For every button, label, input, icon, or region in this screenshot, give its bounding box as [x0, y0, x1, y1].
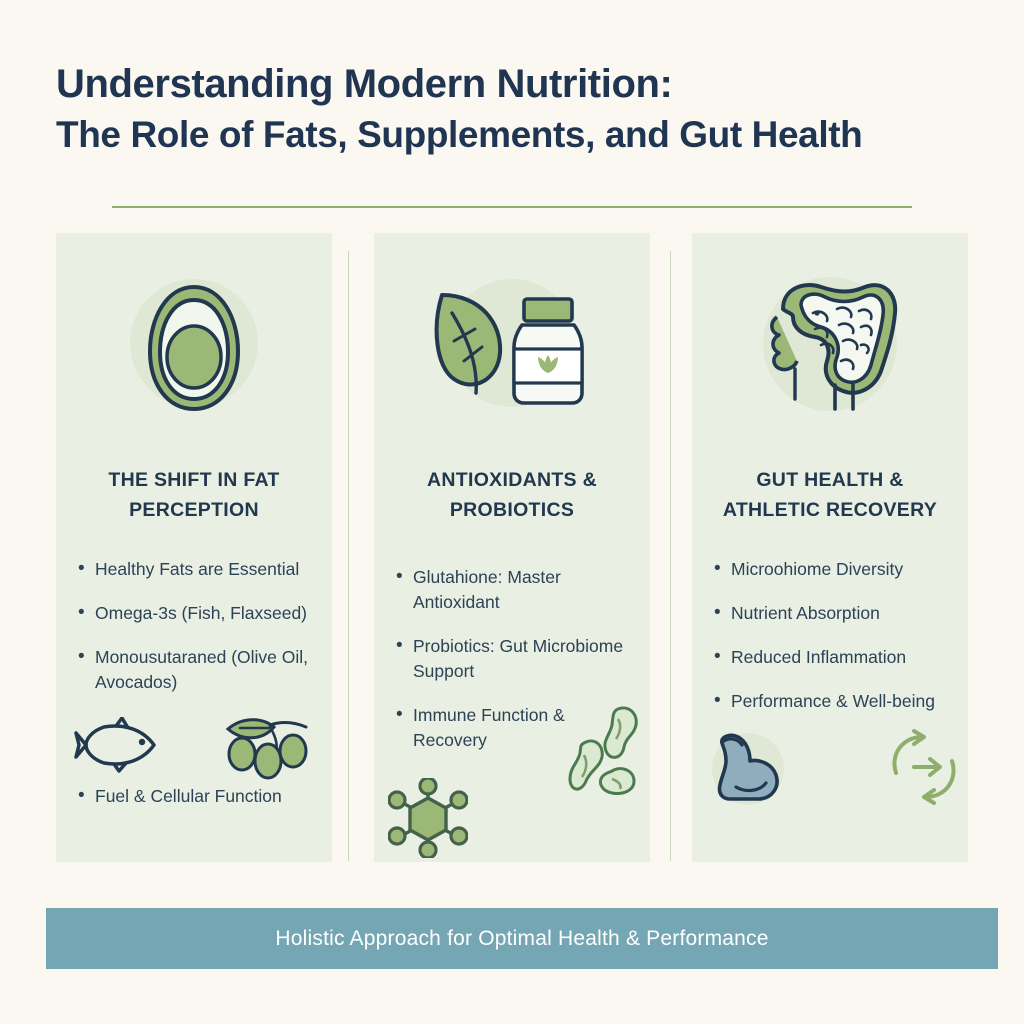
- card-fat-perception: THE SHIFT IN FAT PERCEPTION Healthy Fats…: [56, 233, 332, 862]
- fish-icon: [74, 717, 160, 773]
- title-line-primary: Understanding Modern Nutrition:: [56, 58, 968, 110]
- columns-container: THE SHIFT IN FAT PERCEPTION Healthy Fats…: [56, 233, 968, 862]
- list-item: Microohiome Diversity: [714, 557, 958, 582]
- list-item: Healthy Fats are Essential: [78, 557, 322, 582]
- footer-banner: Holistic Approach for Optimal Health & P…: [46, 908, 998, 969]
- card-2-icon-header: [374, 255, 650, 441]
- list-item: Monousutaraned (Olive Oil, Avocados): [78, 645, 322, 695]
- list-item: Nutrient Absorption: [714, 601, 958, 626]
- intestine-icon: [755, 269, 905, 419]
- page-title: Understanding Modern Nutrition: The Role…: [56, 58, 968, 160]
- flexed-bicep-icon: [710, 731, 786, 807]
- olive-branch-icon: [220, 711, 312, 783]
- supplement-bottle-icon: [506, 295, 590, 407]
- card-3-heading: GUT HEALTH & ATHLETIC RECOVERY: [706, 465, 954, 525]
- card-1-tail-bullet: Fuel & Cellular Function: [78, 784, 322, 809]
- list-item: Probiotics: Gut Microbiome Support: [396, 634, 640, 684]
- card-2-heading: ANTIOXIDANTS & PROBIOTICS: [388, 465, 636, 525]
- card-1-icon-header: [56, 255, 332, 441]
- card-1-heading: THE SHIFT IN FAT PERCEPTION: [70, 465, 318, 525]
- leaf-icon: [430, 283, 510, 409]
- title-line-secondary: The Role of Fats, Supplements, and Gut H…: [56, 110, 968, 160]
- card-antioxidants-probiotics: ANTIOXIDANTS & PROBIOTICS Glutahione: Ma…: [374, 233, 650, 862]
- list-item: Glutahione: Master Antioxidant: [396, 565, 640, 615]
- column-separator-1: [348, 251, 349, 861]
- molecule-icon: [388, 778, 468, 858]
- title-divider-rule: [112, 206, 912, 208]
- list-item: Reduced Inflammation: [714, 645, 958, 670]
- card-gut-health-recovery: GUT HEALTH & ATHLETIC RECOVERY Microohio…: [692, 233, 968, 862]
- card-1-bullet-list: Healthy Fats are Essential Omega-3s (Fis…: [78, 557, 322, 714]
- probiotic-bacteria-icon: [566, 703, 652, 799]
- column-separator-2: [670, 251, 671, 861]
- footer-banner-text: Holistic Approach for Optimal Health & P…: [275, 927, 768, 951]
- card-3-icon-header: [692, 255, 968, 441]
- list-item: Performance & Well-being: [714, 689, 958, 714]
- avocado-icon: [134, 273, 254, 423]
- list-item: Omega-3s (Fish, Flaxseed): [78, 601, 322, 626]
- card-3-bullet-list: Microohiome Diversity Nutrient Absorptio…: [714, 557, 958, 733]
- renewal-arrows-icon: [884, 727, 964, 807]
